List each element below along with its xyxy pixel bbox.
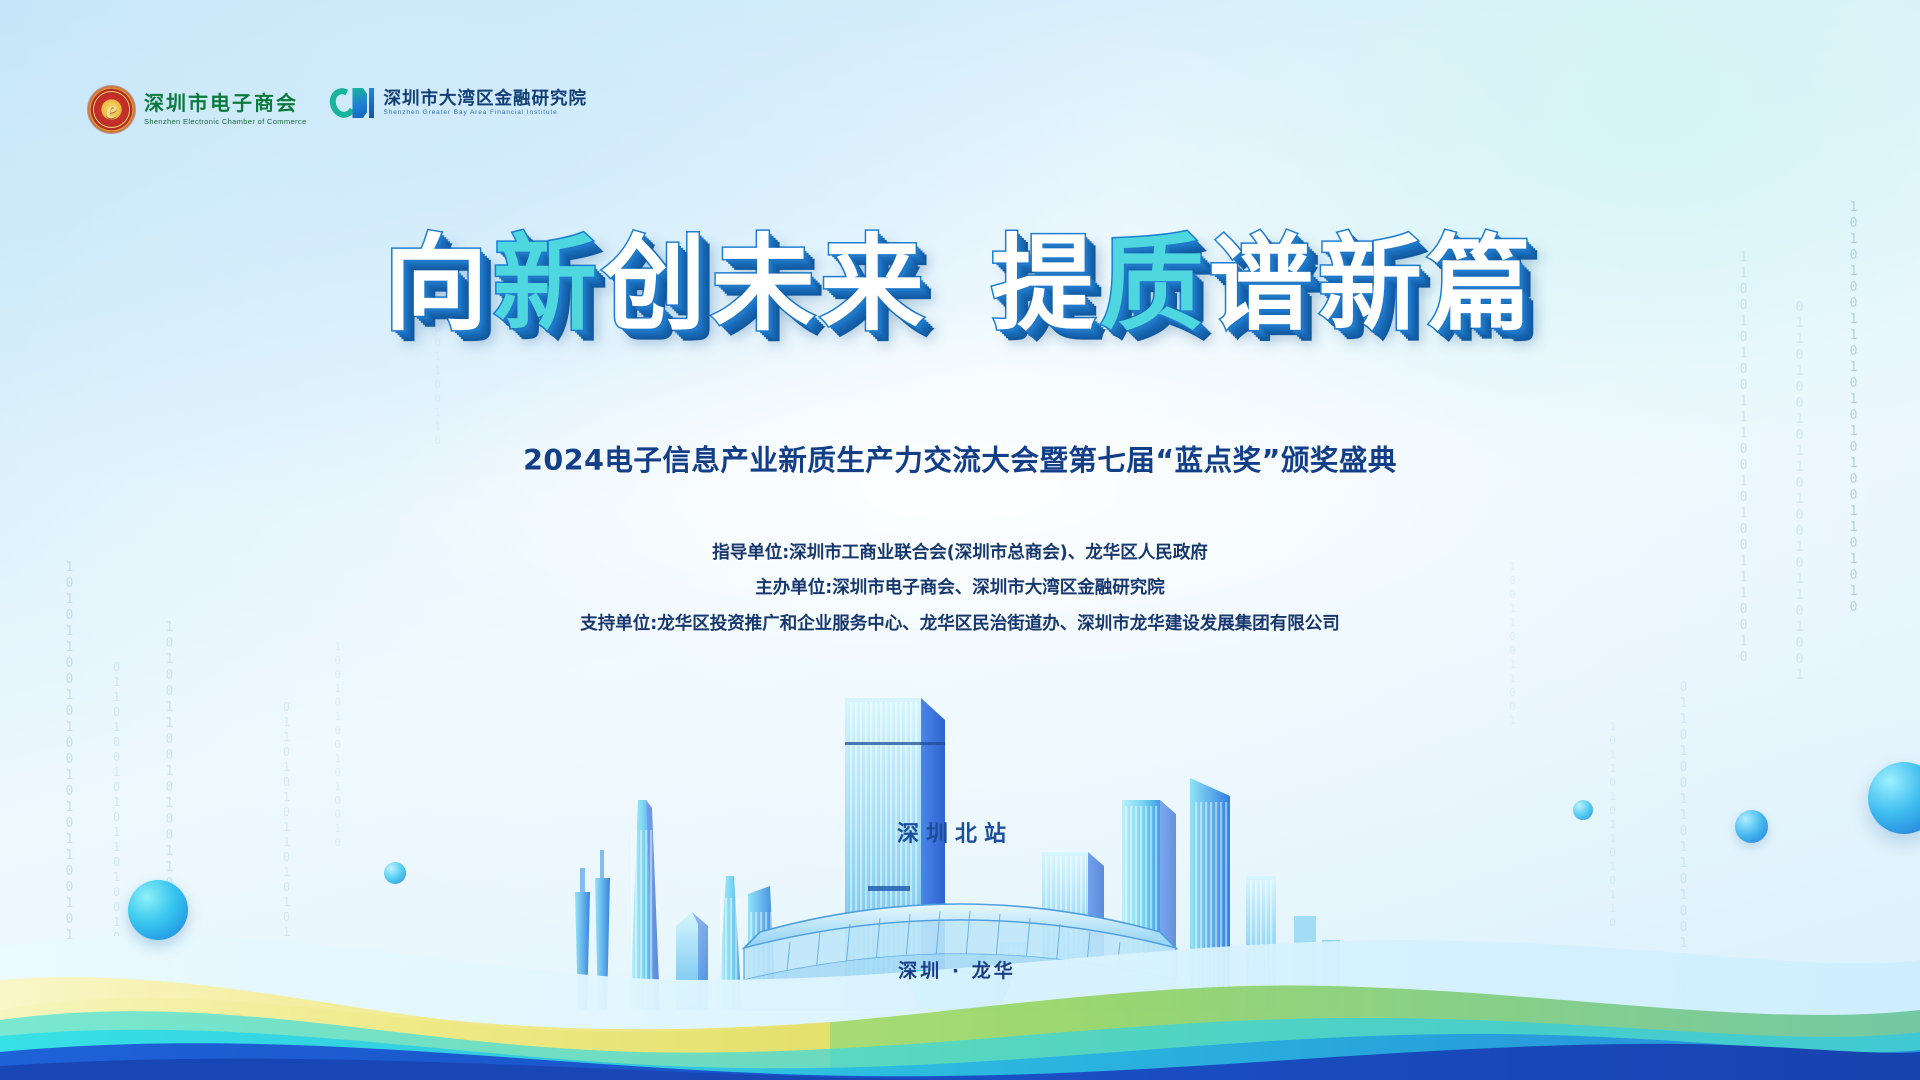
- logo-shenzhen-electronic-chamber: 深圳市电子商会 Shenzhen Electronic Chamber of C…: [88, 86, 306, 133]
- headline-char: 篇: [1427, 232, 1536, 336]
- logo-name-en: Shenzhen Electronic Chamber of Commerce: [144, 118, 306, 126]
- logo-text-block: 深圳市大湾区金融研究院 Shenzhen Greater Bay Area Fi…: [383, 89, 587, 117]
- page-title: 向新创未来提质谱新篇: [0, 232, 1920, 336]
- headline-char: 提: [991, 232, 1100, 336]
- logo-name-cn: 深圳市电子商会: [144, 94, 306, 115]
- organizer-line-host: 主办单位:深圳市电子商会、深圳市大湾区金融研究院: [0, 571, 1920, 606]
- logo-name-cn: 深圳市大湾区金融研究院: [383, 89, 587, 107]
- gbi-monogram-icon: [330, 86, 374, 120]
- logo-bar: 深圳市电子商会 Shenzhen Electronic Chamber of C…: [88, 86, 587, 133]
- decorative-sphere-1: [128, 880, 188, 940]
- headline-char: 新: [1318, 232, 1427, 336]
- headline-char: 未: [711, 232, 820, 336]
- headline-char: 来: [820, 232, 929, 336]
- poster-canvas: 10101100101001010110010100 0110100101011…: [0, 0, 1920, 1080]
- headline-char: 创: [602, 232, 711, 336]
- headline-char: 向: [384, 232, 493, 336]
- logo-text-block: 深圳市电子商会 Shenzhen Electronic Chamber of C…: [144, 94, 306, 126]
- headline-char: 谱: [1209, 232, 1318, 336]
- event-subtitle: 2024电子信息产业新质生产力交流大会暨第七届“蓝点奖”颁奖盛典: [0, 438, 1920, 479]
- logo-gba-financial-institute: 深圳市大湾区金融研究院 Shenzhen Greater Bay Area Fi…: [330, 86, 587, 120]
- organizer-block: 指导单位:深圳市工商业联合会(深圳市总商会)、龙华区人民政府 主办单位:深圳市电…: [0, 536, 1920, 642]
- gbi-letter-b: [352, 88, 367, 118]
- organizer-line-support: 支持单位:龙华区投资推广和企业服务中心、龙华区民治街道办、深圳市龙华建设发展集团…: [0, 607, 1920, 642]
- decorative-sphere-2: [384, 862, 406, 884]
- headline-char: 新: [493, 232, 602, 336]
- logo-name-en: Shenzhen Greater Bay Area Financial Inst…: [383, 110, 587, 117]
- organizer-line-guidance: 指导单位:深圳市工商业联合会(深圳市总商会)、龙华区人民政府: [0, 536, 1920, 571]
- city-skyline-scene: [0, 680, 1920, 1080]
- headline-char: 质: [1100, 232, 1209, 336]
- decorative-sphere-4: [1735, 810, 1768, 843]
- seal-emblem-icon: [88, 86, 135, 133]
- gbi-letter-i: [369, 88, 374, 118]
- decorative-sphere-3: [1573, 800, 1593, 820]
